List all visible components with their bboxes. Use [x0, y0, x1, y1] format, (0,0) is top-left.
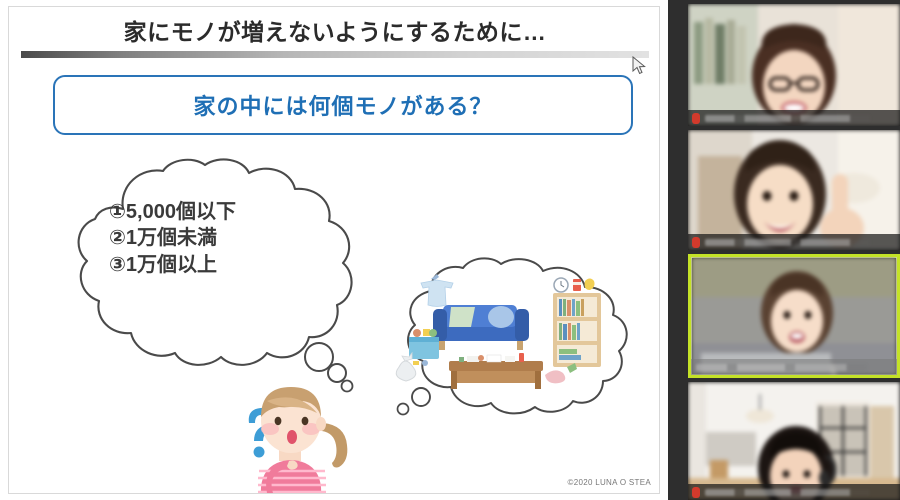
mouse-pointer-icon [632, 56, 648, 76]
participant-3-name-redacted [696, 364, 867, 371]
participant-4-name-bar [688, 484, 900, 500]
participant-3-name-bar [691, 359, 897, 375]
answer-option-1: ①5,000個以下 [109, 199, 349, 225]
participant-video-panel [668, 0, 900, 500]
video-feed-2 [688, 130, 900, 250]
video-feed-4 [688, 382, 900, 500]
copyright-notice: ©2020 LUNA O STEA [568, 478, 651, 487]
answer-options-list: ①5,000個以下 ②1万個未満 ③1万個以上 [109, 199, 349, 278]
cloud-bubble-shape [61, 157, 371, 402]
slide-title: 家にモノが増えないようにするために… [9, 13, 660, 47]
thought-bubble: ①5,000個以下 ②1万個未満 ③1万個以上 [61, 157, 371, 402]
room-thought-bubble [377, 257, 633, 417]
answer-option-2: ②1万個未満 [109, 225, 349, 251]
participant-4-name-redacted [705, 489, 870, 496]
microphone-muted-icon [692, 113, 700, 124]
participant-2-name-redacted [705, 239, 870, 246]
question-box: 家の中には何個モノがある？ [53, 75, 633, 135]
question-text: 家の中には何個モノがある？ [193, 89, 492, 121]
microphone-muted-icon [692, 487, 700, 498]
presentation-slide: 家にモノが増えないようにするために… 家の中には何個モノがある？ ①5,000個… [8, 6, 660, 494]
video-tile-participant-1[interactable] [688, 4, 900, 126]
video-conference-window: 家にモノが増えないようにするために… 家の中には何個モノがある？ ①5,000個… [0, 0, 900, 500]
microphone-muted-icon [692, 237, 700, 248]
thinking-woman-illustration [227, 379, 377, 494]
video-tile-participant-3[interactable] [688, 254, 900, 378]
video-feed-3 [691, 257, 897, 375]
room-bubble-shape [377, 257, 633, 417]
title-divider-rule [21, 51, 649, 58]
video-tile-participant-4[interactable] [688, 382, 900, 500]
answer-option-3: ③1万個以上 [109, 252, 349, 278]
participant-1-name-bar [688, 110, 900, 126]
participant-1-name-redacted [705, 115, 870, 122]
participant-2-name-bar [688, 234, 900, 250]
video-feed-1 [688, 4, 900, 126]
shared-screen-area[interactable]: 家にモノが増えないようにするために… 家の中には何個モノがある？ ①5,000個… [0, 0, 668, 500]
video-tile-participant-2[interactable] [688, 130, 900, 250]
